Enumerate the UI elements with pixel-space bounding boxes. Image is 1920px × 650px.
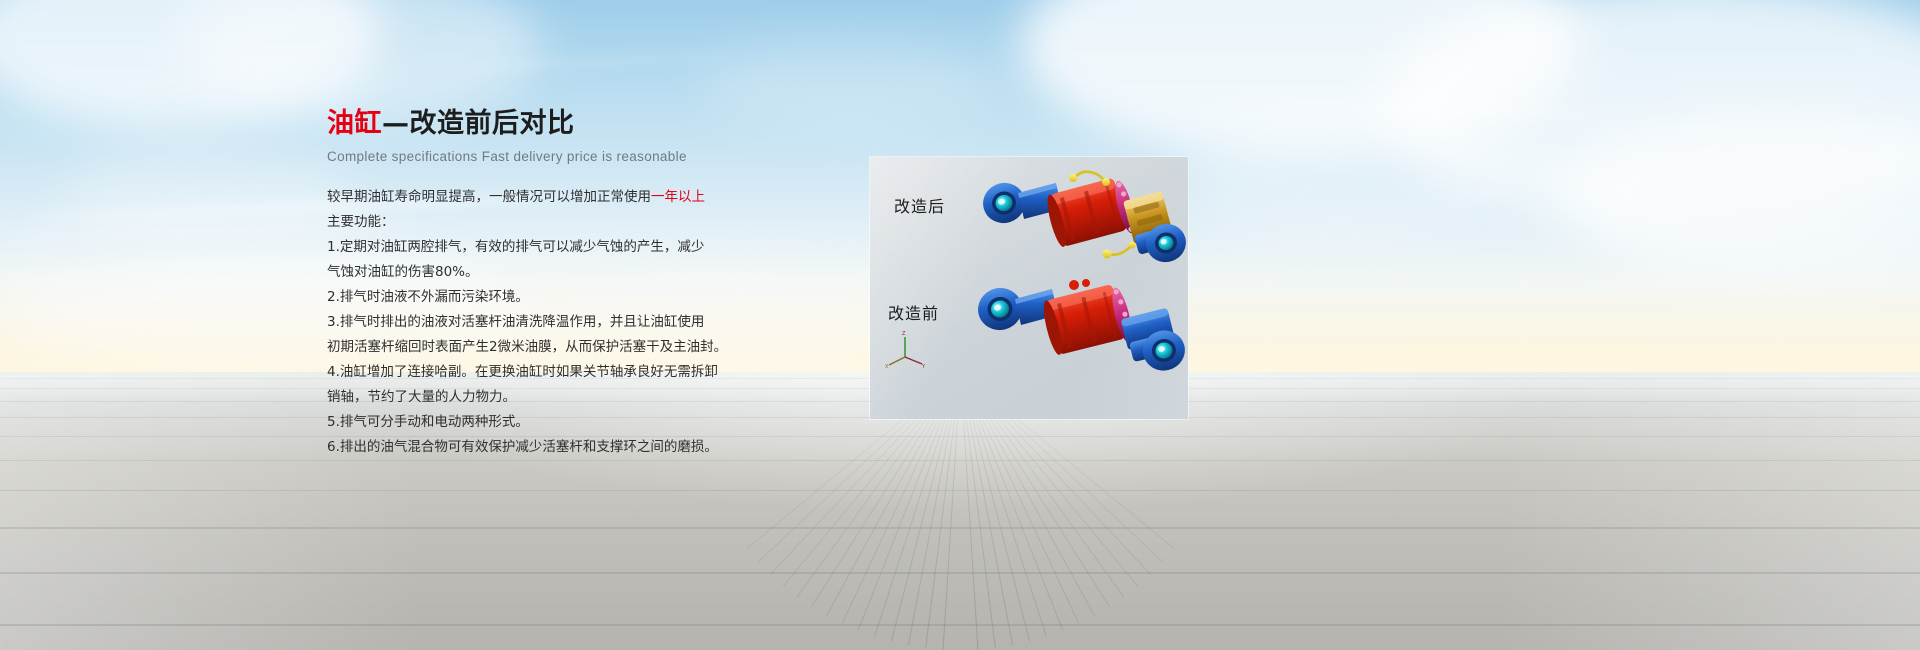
- feature-text-line: 2.排气时油液不外漏而污染环境。: [327, 285, 847, 310]
- copy-block: 油缸—改造前后对比 Complete specifications Fast d…: [327, 108, 847, 460]
- feature-text: 4.油缸增加了连接哈副。在更换油缸时如果关节轴承良好无需拆卸: [327, 364, 718, 380]
- pavement-joint-horizontal: [0, 572, 1920, 574]
- feature-text-list: 较早期油缸寿命明显提高，一般情况可以增加正常使用一年以上主要功能：1.定期对油缸…: [327, 185, 847, 460]
- cad-render-after: [970, 165, 1188, 287]
- feature-text: 较早期油缸寿命明显提高，一般情况可以增加正常使用: [327, 189, 651, 205]
- feature-text: 销轴，节约了大量的人力物力。: [327, 389, 516, 405]
- pavement-joint-horizontal: [0, 490, 1920, 491]
- feature-text-line: 4.油缸增加了连接哈副。在更换油缸时如果关节轴承良好无需拆卸: [327, 360, 847, 385]
- pavement-joint-horizontal: [0, 624, 1920, 626]
- feature-text: 5.排气可分手动和电动两种形式。: [327, 414, 529, 430]
- feature-text-line: 5.排气可分手动和电动两种形式。: [327, 410, 847, 435]
- feature-text-line: 3.排气时排出的油液对活塞杆油清洗降温作用，并且让油缸使用: [327, 310, 847, 335]
- feature-text: 6.排出的油气混合物可有效保护减少活塞杆和支撑环之间的磨损。: [327, 439, 718, 455]
- feature-text-line: 6.排出的油气混合物可有效保护减少活塞杆和支撑环之间的磨损。: [327, 435, 847, 460]
- title-highlight: 油缸: [327, 108, 382, 139]
- feature-text-line: 1.定期对油缸两腔排气，有效的排气可以减少气蚀的产生，减少: [327, 235, 847, 260]
- cad-render-before: [968, 275, 1188, 405]
- page-title: 油缸—改造前后对比: [327, 108, 847, 140]
- cloud-shape: [1180, 120, 1500, 240]
- feature-text: 初期活塞杆缩回时表面产生2微米油膜，从而保护活塞干及主油封。: [327, 339, 727, 355]
- feature-text: 主要功能：: [327, 214, 395, 230]
- feature-text-line: 初期活塞杆缩回时表面产生2微米油膜，从而保护活塞干及主油封。: [327, 335, 847, 360]
- page-subtitle: Complete specifications Fast delivery pr…: [327, 149, 847, 164]
- title-rest: —改造前后对比: [382, 108, 575, 139]
- pavement-joint-horizontal: [0, 527, 1920, 529]
- pavement-joint-horizontal: [0, 436, 1920, 437]
- feature-text: 3.排气时排出的油液对活塞杆油清洗降温作用，并且让油缸使用: [327, 314, 704, 330]
- label-before-modification: 改造前: [888, 300, 939, 324]
- svg-text:Z: Z: [902, 331, 906, 337]
- feature-text-line: 销轴，节约了大量的人力物力。: [327, 385, 847, 410]
- feature-text: 1.定期对油缸两腔排气，有效的排气可以减少气蚀的产生，减少: [327, 239, 704, 255]
- feature-text: 2.排气时油液不外漏而污染环境。: [327, 289, 529, 305]
- coordinate-axis-icon: Z X Y: [885, 329, 927, 369]
- feature-text-highlight: 一年以上: [651, 189, 705, 205]
- feature-text: 气蚀对油缸的伤害80%。: [327, 264, 479, 280]
- feature-text-line: 较早期油缸寿命明显提高，一般情况可以增加正常使用一年以上: [327, 185, 847, 210]
- svg-text:Y: Y: [921, 364, 926, 369]
- svg-text:X: X: [885, 364, 889, 369]
- product-banner: 油缸—改造前后对比 Complete specifications Fast d…: [0, 0, 1920, 650]
- product-image-panel: 改造后 改造前: [870, 157, 1188, 419]
- pavement-joint-horizontal: [0, 460, 1920, 461]
- feature-text-line: 气蚀对油缸的伤害80%。: [327, 260, 847, 285]
- feature-text-line: 主要功能：: [327, 210, 847, 235]
- label-after-modification: 改造后: [894, 193, 945, 217]
